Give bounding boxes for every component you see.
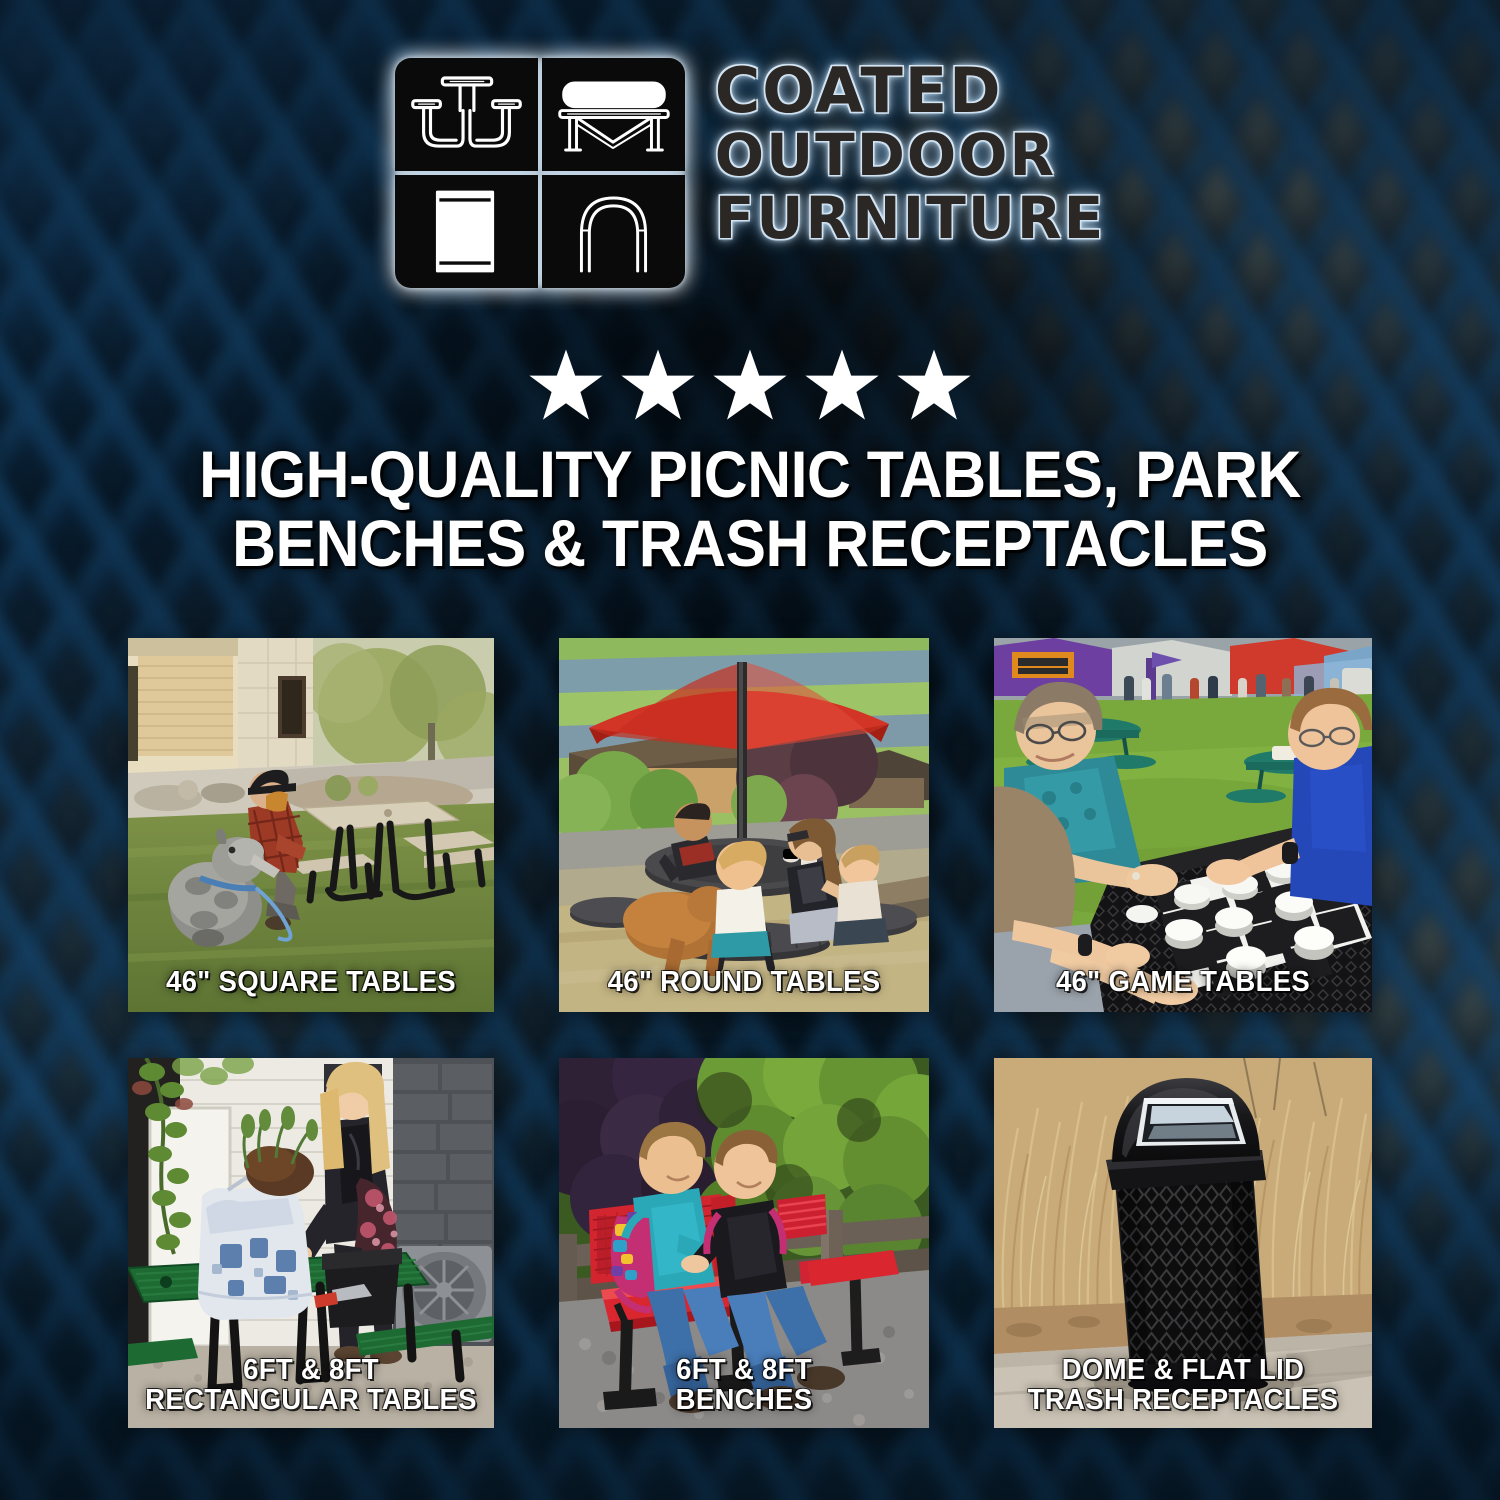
brand-name-line-2: OUTDOOR — [715, 129, 1105, 182]
bench-icon — [542, 58, 685, 171]
caption-line-2: RECTANGULAR TABLES — [137, 1385, 485, 1416]
brand-logo-mark — [395, 58, 685, 288]
headline-line-2: BENCHES & TRASH RECEPTACLES — [60, 509, 1440, 578]
caption-line-1: 46" GAME TABLES — [1003, 967, 1362, 998]
product-card-rectangular-tables[interactable]: 6FT & 8FT RECTANGULAR TABLES — [128, 1058, 494, 1428]
product-image-game-tables — [994, 638, 1372, 1012]
rating-stars — [0, 348, 1500, 422]
product-caption-benches: 6FT & 8FT BENCHES — [568, 1355, 920, 1416]
product-card-trash-receptacles[interactable]: DOME & FLAT LID TRASH RECEPTACLES — [994, 1058, 1372, 1428]
star-icon — [803, 348, 881, 422]
star-icon — [895, 348, 973, 422]
picnic-table-icon — [395, 58, 538, 171]
brand-name: COATED OUTDOOR FURNITURE — [715, 58, 1105, 246]
trash-receptacle-icon — [395, 175, 538, 288]
caption-line-2: TRASH RECEPTACLES — [1003, 1385, 1362, 1416]
product-grid: 46" SQUARE TABLES — [128, 638, 1372, 1428]
star-icon — [711, 348, 789, 422]
caption-line-1: 6FT & 8FT — [568, 1355, 920, 1386]
brand-header: COATED OUTDOOR FURNITURE — [0, 58, 1500, 288]
product-card-benches[interactable]: 6FT & 8FT BENCHES — [559, 1058, 929, 1428]
product-card-round-tables[interactable]: 46" ROUND TABLES — [559, 638, 929, 1012]
product-caption-trash-receptacles: DOME & FLAT LID TRASH RECEPTACLES — [1003, 1355, 1362, 1416]
brand-name-line-1: COATED — [715, 62, 1105, 119]
product-image-round-tables — [559, 638, 929, 1012]
product-image-square-tables — [128, 638, 494, 1012]
brand-name-line-3: FURNITURE — [715, 192, 1105, 245]
product-caption-game-tables: 46" GAME TABLES — [1003, 967, 1362, 998]
product-card-game-tables[interactable]: 46" GAME TABLES — [994, 638, 1372, 1012]
caption-line-1: DOME & FLAT LID — [1003, 1355, 1362, 1386]
caption-line-2: BENCHES — [568, 1385, 920, 1416]
caption-line-1: 6FT & 8FT — [137, 1355, 485, 1386]
product-caption-rectangular-tables: 6FT & 8FT RECTANGULAR TABLES — [137, 1355, 485, 1416]
star-icon — [527, 348, 605, 422]
caption-line-1: 46" ROUND TABLES — [568, 967, 920, 998]
headline-line-1: HIGH-QUALITY PICNIC TABLES, PARK — [60, 440, 1440, 509]
page-headline: HIGH-QUALITY PICNIC TABLES, PARK BENCHES… — [60, 440, 1440, 577]
product-caption-round-tables: 46" ROUND TABLES — [568, 967, 920, 998]
star-icon — [619, 348, 697, 422]
caption-line-1: 46" SQUARE TABLES — [137, 967, 485, 998]
product-caption-square-tables: 46" SQUARE TABLES — [137, 967, 485, 998]
product-card-square-tables[interactable]: 46" SQUARE TABLES — [128, 638, 494, 1012]
bike-rack-arch-icon — [542, 175, 685, 288]
